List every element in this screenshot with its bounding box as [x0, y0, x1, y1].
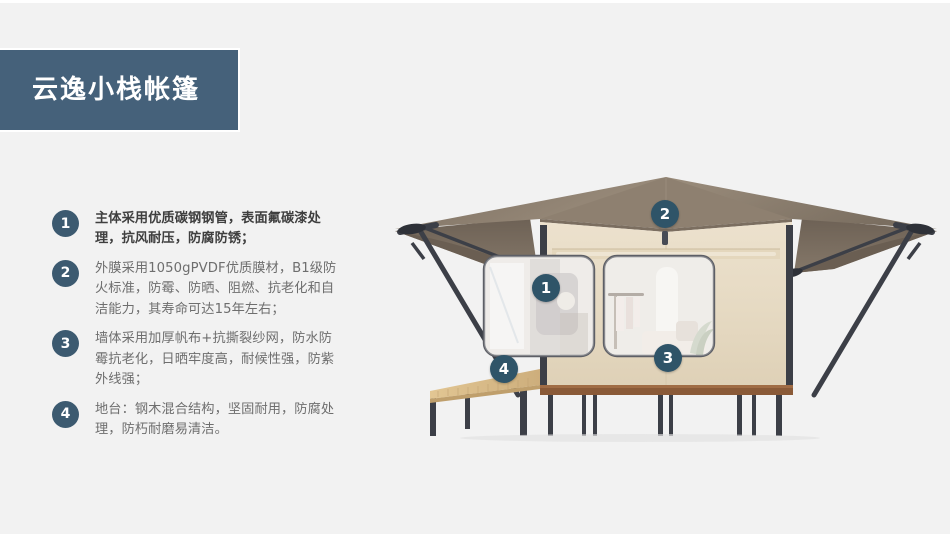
feature-text-1: 主体采用优质碳钢钢管，表面氟碳漆处理，抗风耐压，防腐防锈；: [95, 209, 337, 250]
feature-badge-4: 4: [52, 401, 79, 428]
feature-badge-2: 2: [52, 260, 79, 287]
feature-item-3: 3 墙体采用加厚帆布+抗撕裂纱网，防水防霉抗老化，日晒牢度高，耐候性强，防紫外线…: [52, 329, 352, 390]
callout-badge-4: 4: [490, 355, 518, 383]
title-banner: 云逸小栈帐篷: [0, 48, 240, 132]
feature-item-4: 4 地台：钢木混合结构，坚固耐用，防腐处理，防朽耐磨易清洁。: [52, 400, 352, 441]
feature-badge-1: 1: [52, 210, 79, 237]
feature-text-4: 地台：钢木混合结构，坚固耐用，防腐处理，防朽耐磨易清洁。: [95, 400, 337, 441]
callout-badge-3: 3: [654, 344, 682, 372]
feature-item-2: 2 外膜采用1050gPVDF优质膜材，B1级防火标准，防霉、防晒、阻燃、抗老化…: [52, 259, 352, 320]
feature-text-2: 外膜采用1050gPVDF优质膜材，B1级防火标准，防霉、防晒、阻燃、抗老化和自…: [95, 259, 337, 320]
corner-post-right: [786, 225, 793, 391]
feature-item-1: 1 主体采用优质碳钢钢管，表面氟碳漆处理，抗风耐压，防腐防锈；: [52, 209, 352, 250]
window-left: [484, 256, 594, 356]
feature-list: 1 主体采用优质碳钢钢管，表面氟碳漆处理，抗风耐压，防腐防锈； 2 外膜采用10…: [52, 209, 352, 450]
slide-root: 云逸小栈帐篷 1 主体采用优质碳钢钢管，表面氟碳漆处理，抗风耐压，防腐防锈； 2…: [0, 0, 950, 534]
callout-badge-1: 1: [532, 274, 560, 302]
feature-badge-3: 3: [52, 330, 79, 357]
window-right: [604, 256, 714, 356]
callout-badge-2: 2: [651, 200, 679, 228]
feature-text-3: 墙体采用加厚帆布+抗撕裂纱网，防水防霉抗老化，日晒牢度高，耐候性强，防紫外线强；: [95, 329, 337, 390]
page-title: 云逸小栈帐篷: [32, 77, 200, 103]
